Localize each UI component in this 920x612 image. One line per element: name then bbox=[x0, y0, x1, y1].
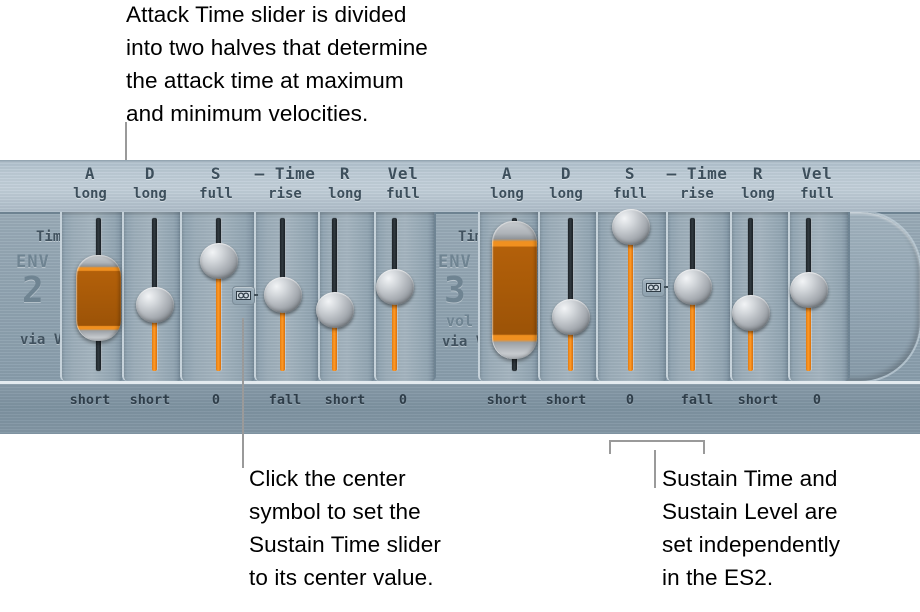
env3-header-5-top: Vel bbox=[762, 164, 872, 183]
env3-sustain-time-knob[interactable] bbox=[674, 269, 712, 305]
callout-attack-time: Attack Time slider is divided into two h… bbox=[126, 0, 546, 130]
env3-sub-label: vol bbox=[446, 312, 473, 330]
env2-center-value-icon[interactable] bbox=[232, 286, 255, 305]
callout-sustain: Sustain Time and Sustain Level are set i… bbox=[662, 462, 912, 594]
leader-line-sustain bbox=[654, 450, 656, 488]
env2-header-5-top: Vel bbox=[348, 164, 458, 183]
env2-sustain-level-knob[interactable] bbox=[200, 243, 238, 279]
env3-sustain-level-fill bbox=[628, 227, 633, 371]
env3-name-label: ENV bbox=[438, 252, 472, 272]
env3-decay-time-knob[interactable] bbox=[552, 299, 590, 335]
env2-center-value-tick bbox=[254, 294, 258, 296]
env3-release-time-knob[interactable] bbox=[732, 295, 770, 331]
bracket-sustain-region bbox=[609, 440, 705, 454]
env2-name-label: ENV bbox=[16, 252, 50, 272]
env2-value-5: 0 bbox=[348, 392, 458, 408]
callout-center-symbol: Click the center symbol to set the Susta… bbox=[249, 462, 529, 594]
env3-number-label: 3 bbox=[444, 270, 466, 311]
env3-header-5-bottom: full bbox=[762, 186, 872, 202]
panel-top-edge bbox=[0, 160, 920, 163]
env2-header-5-bottom: full bbox=[348, 186, 458, 202]
env2-attack-time-dual-knob[interactable] bbox=[76, 255, 121, 341]
env2-sustain-time-knob[interactable] bbox=[264, 277, 302, 313]
env2-number-label: 2 bbox=[22, 270, 44, 311]
env3-center-value-tick bbox=[664, 286, 668, 288]
env3-sustain-level-knob[interactable] bbox=[612, 209, 650, 245]
leader-line-center-symbol bbox=[242, 318, 244, 468]
env2-decay-time-knob[interactable] bbox=[136, 287, 174, 323]
es2-envelope-panel: TimeENV2via VelAlongshortDlongshortSfull… bbox=[0, 160, 920, 434]
env2-velocity-amount-knob[interactable] bbox=[376, 269, 414, 305]
env3-value-5: 0 bbox=[762, 392, 872, 408]
env3-attack-time-dual-knob[interactable] bbox=[492, 221, 537, 359]
env3-velocity-amount-knob[interactable] bbox=[790, 272, 828, 308]
leader-line-attack-top bbox=[125, 122, 127, 160]
env2-release-time-knob[interactable] bbox=[316, 292, 354, 328]
env3-center-value-icon[interactable] bbox=[642, 278, 665, 297]
